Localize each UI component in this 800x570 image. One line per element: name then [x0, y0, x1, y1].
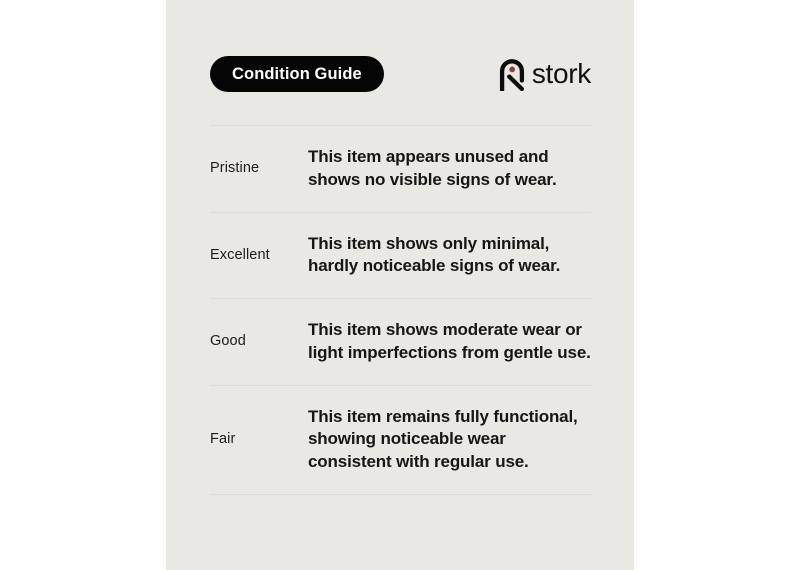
- table-row: Excellent This item shows only minimal, …: [210, 213, 591, 299]
- brand-wordmark: stork: [532, 60, 591, 88]
- condition-description: This item appears unused and shows no vi…: [308, 146, 591, 192]
- condition-guide-badge: Condition Guide: [210, 56, 384, 92]
- condition-label: Fair: [210, 430, 308, 449]
- condition-description: This item remains fully functional, show…: [308, 406, 591, 474]
- table-row: Pristine This item appears unused and sh…: [210, 126, 591, 212]
- condition-label: Good: [210, 332, 308, 351]
- condition-label: Pristine: [210, 159, 308, 178]
- table-divider-bottom: [210, 494, 591, 495]
- stork-arch-logo-icon: [499, 58, 525, 91]
- table-row: Fair This item remains fully functional,…: [210, 386, 591, 494]
- brand-lockup: stork: [499, 58, 591, 91]
- condition-label: Excellent: [210, 246, 308, 265]
- card-header: Condition Guide stork: [210, 56, 591, 92]
- table-row: Good This item shows moderate wear or li…: [210, 299, 591, 385]
- condition-description: This item shows only minimal, hardly not…: [308, 233, 591, 279]
- condition-guide-card: Condition Guide stork Pristine This item…: [166, 0, 634, 570]
- condition-table: Pristine This item appears unused and sh…: [210, 125, 591, 495]
- condition-description: This item shows moderate wear or light i…: [308, 319, 591, 365]
- page-root: Condition Guide stork Pristine This item…: [0, 0, 800, 570]
